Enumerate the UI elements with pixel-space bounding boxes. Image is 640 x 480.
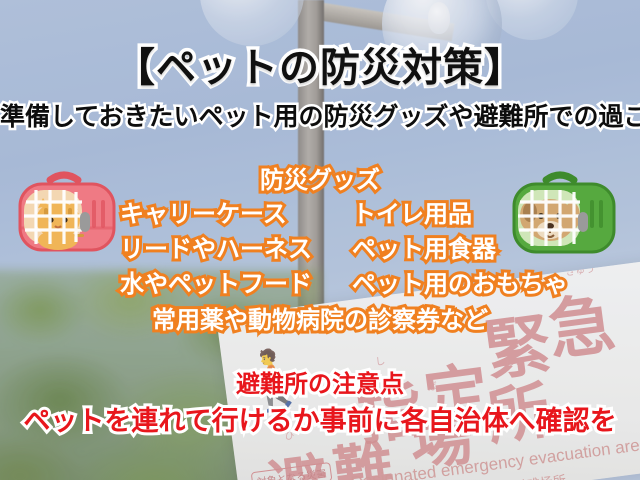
goods-item-lead-harness: リードやハーネス <box>120 237 340 261</box>
shelter-section-heading: 避難所の注意点 <box>0 372 640 396</box>
goods-item-pet-toy: ペット用のおもちゃ <box>352 272 592 296</box>
infographic-banner: 🚶 し 指 定 きん 緊 きゅう 急 ひ 避 なん 難 ば 場 しょ 所 対象と… <box>0 0 640 480</box>
goods-row-1: リードやハーネス ペット用食器 <box>0 237 640 269</box>
goods-section-heading: 防災グッズ <box>0 168 640 192</box>
goods-item-carrier-case: キャリーケース <box>120 202 340 226</box>
goods-row-0: キャリーケース トイレ用品 <box>0 202 640 234</box>
page-subtitle: 準備しておきたいペット用の防災グッズや避難所での過ごし方 <box>0 104 640 129</box>
shelter-section-body: ペットを連れて行けるか事前に各自治体へ確認を <box>0 408 640 435</box>
goods-item-pet-bowl: ペット用食器 <box>352 237 592 261</box>
goods-item-medicine-clinic-card: 常用薬や動物病院の診察券など <box>0 308 640 332</box>
goods-row-2: 水やペットフード ペット用のおもちゃ <box>0 272 640 304</box>
goods-item-toilet-supplies: トイレ用品 <box>352 202 592 226</box>
goods-item-water-food: 水やペットフード <box>120 272 340 296</box>
page-title: 【ペットの防災対策】 <box>0 48 640 88</box>
